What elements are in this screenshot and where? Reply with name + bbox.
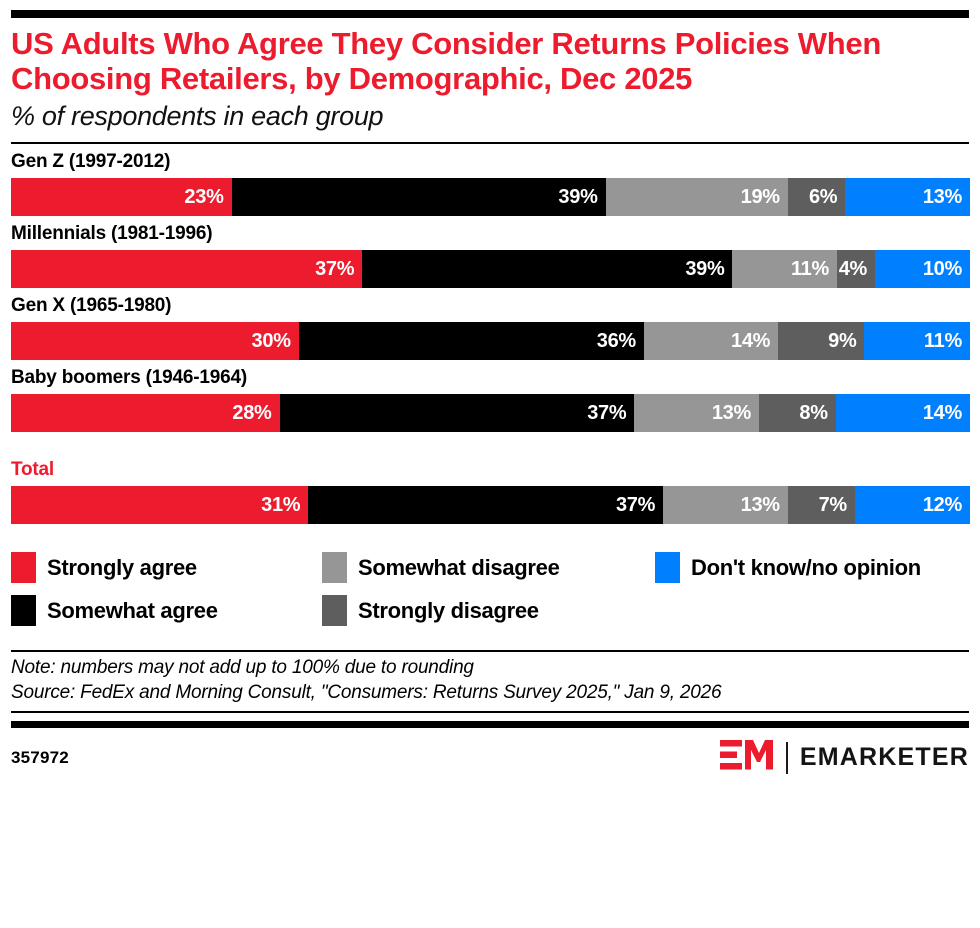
bar-segment: 23% [11, 178, 232, 216]
bar-segment: 4% [837, 250, 875, 288]
bar-segment-value: 28% [232, 402, 271, 425]
stacked-bar: 23%39%19%6%13% [11, 178, 970, 216]
bar-segment: 6% [788, 178, 846, 216]
bar-segment: 19% [606, 178, 788, 216]
chart-page: US Adults Who Agree They Consider Return… [0, 10, 980, 928]
notes-top-divider [11, 650, 969, 652]
legend-item[interactable]: Don't know/no opinion [655, 552, 969, 583]
legend-swatch-icon [11, 595, 36, 626]
emarketer-brand: EMARKETER [720, 738, 969, 777]
bar-segment: 14% [836, 394, 970, 432]
bar-segment-value: 19% [741, 186, 780, 209]
bar-segment-value: 37% [587, 402, 626, 425]
legend-label: Strongly disagree [358, 599, 539, 623]
bar-segment: 39% [232, 178, 606, 216]
bar-segment: 8% [759, 394, 836, 432]
bar-group: Gen X (1965-1980)30%36%14%9%11% [11, 294, 969, 360]
em-logo-icon [720, 738, 774, 777]
legend-label: Strongly agree [47, 556, 197, 580]
chart-legend: Strongly agreeSomewhat disagreeDon't kno… [11, 546, 969, 632]
bar-segment: 12% [855, 486, 970, 524]
bar-segment: 39% [362, 250, 732, 288]
bar-segment-value: 10% [923, 258, 962, 281]
bar-segment-value: 14% [923, 402, 962, 425]
bar-segment: 9% [778, 322, 864, 360]
legend-item[interactable]: Somewhat disagree [322, 552, 655, 583]
bar-segment: 13% [845, 178, 970, 216]
bar-segment-value: 9% [828, 330, 856, 353]
bar-group: Total31%37%13%7%12% [11, 458, 969, 524]
note-text: Note: numbers may not add up to 100% due… [11, 655, 969, 680]
bar-segment-value: 30% [252, 330, 291, 353]
legend-swatch-icon [322, 552, 347, 583]
bar-category-label: Baby boomers (1946-1964) [11, 366, 969, 390]
bar-segment: 7% [788, 486, 855, 524]
legend-swatch-icon [11, 552, 36, 583]
bar-segment-value: 6% [809, 186, 837, 209]
bar-group: Millennials (1981-1996)37%39%11%4%10% [11, 222, 969, 288]
stacked-bar: 31%37%13%7%12% [11, 486, 970, 524]
bar-segment: 13% [634, 394, 759, 432]
bar-segment: 31% [11, 486, 308, 524]
bar-segment-value: 11% [791, 258, 829, 281]
bar-group: Baby boomers (1946-1964)28%37%13%8%14% [11, 366, 969, 432]
bar-segment-value: 7% [819, 494, 847, 517]
legend-swatch-icon [322, 595, 347, 626]
bar-segment-value: 11% [924, 330, 962, 353]
top-rule [11, 10, 969, 18]
bar-segment-value: 36% [597, 330, 636, 353]
bar-segment: 30% [11, 322, 299, 360]
bar-category-label: Gen X (1965-1980) [11, 294, 969, 318]
bar-segment: 10% [875, 250, 970, 288]
bar-segment: 37% [11, 250, 362, 288]
bar-group: Gen Z (1997-2012)23%39%19%6%13% [11, 150, 969, 216]
bar-segment: 37% [280, 394, 635, 432]
footer: 357972 EMARKETER [11, 738, 969, 777]
bar-segment: 11% [864, 322, 969, 360]
bar-category-label: Gen Z (1997-2012) [11, 150, 969, 174]
bar-segment-value: 13% [741, 494, 780, 517]
brand-divider [786, 742, 788, 774]
bar-segment-value: 37% [616, 494, 655, 517]
bar-segment-value: 31% [261, 494, 300, 517]
brand-name: EMARKETER [800, 743, 969, 772]
bar-segment-value: 8% [799, 402, 827, 425]
bar-segment-value: 12% [923, 494, 962, 517]
legend-label: Somewhat disagree [358, 556, 560, 580]
chart-subtitle: % of respondents in each group [11, 100, 969, 132]
bar-segment-value: 14% [731, 330, 770, 353]
bar-segment: 36% [299, 322, 644, 360]
bar-segment: 13% [663, 486, 788, 524]
bar-segment-value: 39% [558, 186, 597, 209]
bar-rows-container: Gen Z (1997-2012)23%39%19%6%13%Millennia… [11, 150, 969, 524]
bar-segment: 14% [644, 322, 778, 360]
legend-item[interactable]: Somewhat agree [11, 595, 322, 626]
legend-swatch-icon [655, 552, 680, 583]
bar-segment-value: 13% [923, 186, 962, 209]
chart-id: 357972 [11, 748, 69, 768]
stacked-bar: 28%37%13%8%14% [11, 394, 970, 432]
bar-segment-value: 23% [184, 186, 223, 209]
source-text: Source: FedEx and Morning Consult, "Cons… [11, 680, 969, 705]
legend-label: Don't know/no opinion [691, 556, 921, 580]
legend-item[interactable]: Strongly disagree [322, 595, 655, 626]
bar-segment: 28% [11, 394, 280, 432]
stacked-bar: 30%36%14%9%11% [11, 322, 970, 360]
bar-segment-value: 13% [712, 402, 751, 425]
bar-segment-value: 37% [315, 258, 354, 281]
legend-label: Somewhat agree [47, 599, 218, 623]
chart-title: US Adults Who Agree They Consider Return… [11, 26, 881, 96]
bar-segment-value: 4% [839, 258, 867, 281]
bar-segment-value: 39% [685, 258, 724, 281]
bar-category-label: Millennials (1981-1996) [11, 222, 969, 246]
legend-item[interactable]: Strongly agree [11, 552, 322, 583]
footer-rule [11, 721, 969, 728]
bar-segment: 11% [732, 250, 836, 288]
bar-segment: 37% [308, 486, 663, 524]
stacked-bar: 37%39%11%4%10% [11, 250, 970, 288]
bar-category-label: Total [11, 458, 969, 482]
notes-bottom-divider [11, 711, 969, 713]
header-divider [11, 142, 969, 144]
